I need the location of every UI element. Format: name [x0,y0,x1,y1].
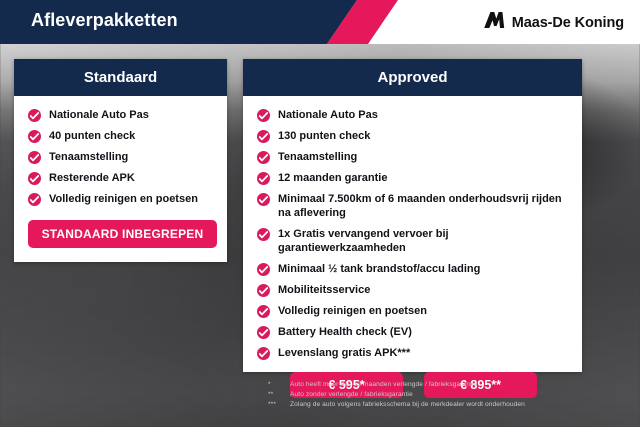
maas-de-koning-m-logo-icon [483,11,505,34]
feature-label: Volledig reinigen en poetsen [278,304,427,318]
feature-label: Nationale Auto Pas [278,108,378,122]
footnote-marker: ** [268,390,290,400]
page-title: Afleverpakketten [31,10,178,31]
brand-logo: Maas-De Koning [483,11,624,34]
footnote-single-asterisk: * Auto heeft meer dan 12 maanden verleng… [268,380,628,390]
check-circle-icon [257,109,270,122]
check-circle-icon [28,193,41,206]
feature-list-standaard: Nationale Auto Pas 40 punten check Tenaa… [28,108,217,206]
card-body-standaard: Nationale Auto Pas 40 punten check Tenaa… [14,96,227,248]
check-circle-icon [257,347,270,360]
page-root: Afleverpakketten Maas-De Koning Standaar… [0,0,640,427]
check-circle-icon [257,130,270,143]
feature-label: Tenaamstelling [49,150,128,164]
standaard-inbegrepen-button[interactable]: STANDAARD INBEGREPEN [28,220,217,248]
feature-label: Mobiliteitsservice [278,283,370,297]
footnote-text: Auto zonder verlengde / fabrieksgarantie [290,390,628,400]
list-item: 1x Gratis vervangend vervoer bij garanti… [257,227,570,255]
check-circle-icon [28,130,41,143]
list-item: Resterende APK [28,171,217,185]
feature-label: Resterende APK [49,171,135,185]
package-card-standaard: Standaard Nationale Auto Pas 40 punten c… [14,59,227,262]
list-item: 40 punten check [28,129,217,143]
list-item: Battery Health check (EV) [257,325,570,339]
feature-label: 130 punten check [278,129,370,143]
list-item: Mobiliteitsservice [257,283,570,297]
footnote-triple-asterisk: *** Zolang de auto volgens fabrieksschem… [268,400,628,410]
check-circle-icon [257,305,270,318]
feature-label: Volledig reinigen en poetsen [49,192,198,206]
list-item: 12 maanden garantie [257,171,570,185]
footnote-double-asterisk: ** Auto zonder verlengde / fabrieksgaran… [268,390,628,400]
check-circle-icon [257,284,270,297]
list-item: Nationale Auto Pas [28,108,217,122]
list-item: Tenaamstelling [28,150,217,164]
footnote-text: Auto heeft meer dan 12 maanden verlengde… [290,380,628,390]
feature-list-approved: Nationale Auto Pas 130 punten check Tena… [257,108,570,360]
page-header: Afleverpakketten Maas-De Koning [0,0,640,44]
list-item: Nationale Auto Pas [257,108,570,122]
feature-label: Minimaal 7.500km of 6 maanden onderhouds… [278,192,570,220]
list-item: Minimaal 7.500km of 6 maanden onderhouds… [257,192,570,220]
brand-name: Maas-De Koning [512,15,624,31]
package-card-approved: Approved Nationale Auto Pas 130 punten c… [243,59,582,372]
check-circle-icon [257,193,270,206]
feature-label: 40 punten check [49,129,135,143]
feature-label: Battery Health check (EV) [278,325,412,339]
list-item: Volledig reinigen en poetsen [257,304,570,318]
feature-label: Minimaal ½ tank brandstof/accu lading [278,262,480,276]
card-title-approved: Approved [243,59,582,96]
feature-label: Levenslang gratis APK*** [278,346,410,360]
list-item: Levenslang gratis APK*** [257,346,570,360]
check-circle-icon [28,109,41,122]
feature-label: 1x Gratis vervangend vervoer bij garanti… [278,227,570,255]
feature-label: Tenaamstelling [278,150,357,164]
feature-label: Nationale Auto Pas [49,108,149,122]
footnote-text: Zolang de auto volgens fabrieksschema bi… [290,400,628,410]
list-item: Minimaal ½ tank brandstof/accu lading [257,262,570,276]
check-circle-icon [28,151,41,164]
list-item: Volledig reinigen en poetsen [28,192,217,206]
footnote-marker: * [268,380,290,390]
check-circle-icon [257,228,270,241]
check-circle-icon [257,172,270,185]
check-circle-icon [257,263,270,276]
check-circle-icon [257,151,270,164]
check-circle-icon [28,172,41,185]
card-title-standaard: Standaard [14,59,227,96]
footnotes: * Auto heeft meer dan 12 maanden verleng… [268,380,628,410]
card-body-approved: Nationale Auto Pas 130 punten check Tena… [243,96,582,398]
list-item: 130 punten check [257,129,570,143]
check-circle-icon [257,326,270,339]
feature-label: 12 maanden garantie [278,171,387,185]
list-item: Tenaamstelling [257,150,570,164]
footnote-marker: *** [268,400,290,410]
